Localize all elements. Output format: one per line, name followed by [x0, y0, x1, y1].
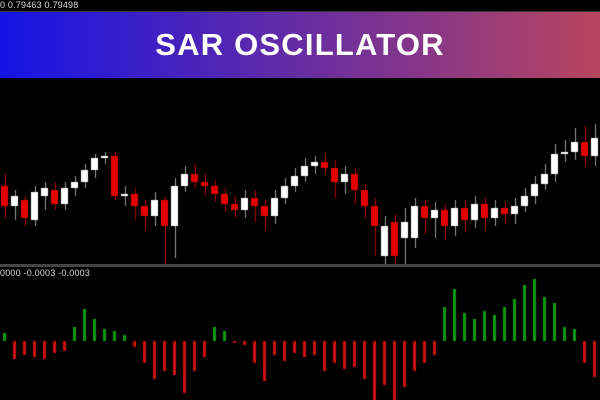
sar-oscillator-panel[interactable]: 0000 -0.0003 -0.0003 — [0, 267, 600, 400]
price-quote-strip: 0 0.79463 0.79498 — [0, 0, 600, 12]
candlestick-chart-canvas — [0, 78, 600, 264]
trading-chart-window: 0 0.79463 0.79498 SAR OSCILLATOR 0000 -0… — [0, 0, 600, 400]
sar-oscillator-canvas — [0, 267, 600, 400]
candlestick-chart-panel[interactable] — [0, 78, 600, 264]
title-banner: SAR OSCILLATOR — [0, 12, 600, 78]
price-quote-text: 0 0.79463 0.79498 — [0, 0, 78, 11]
page-title: SAR OSCILLATOR — [155, 27, 445, 63]
oscillator-value-label: 0000 -0.0003 -0.0003 — [0, 268, 90, 279]
